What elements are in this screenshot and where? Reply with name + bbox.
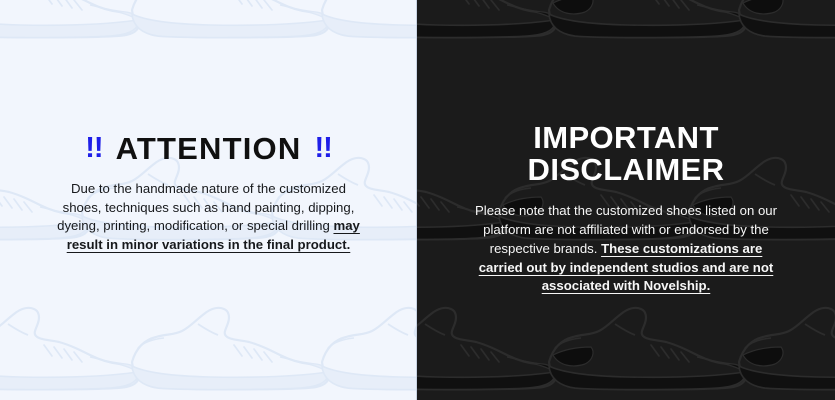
attention-heading: !! ATTENTION !!	[0, 133, 417, 164]
panel-divider	[416, 0, 417, 400]
attention-heading-text: ATTENTION	[116, 133, 302, 164]
disclaimer-heading-line-2: DISCLAIMER	[417, 154, 835, 186]
attention-content: !! ATTENTION !! Due to the handmade natu…	[0, 0, 417, 255]
attention-body: Due to the handmade nature of the custom…	[56, 180, 362, 255]
disclaimer-body: Please note that the customized shoes li…	[467, 202, 785, 296]
disclaimer-banner: !! ATTENTION !! Due to the handmade natu…	[0, 0, 835, 400]
double-exclamation-left-icon: !!	[85, 134, 102, 163]
attention-body-plain: Due to the handmade nature of the custom…	[57, 181, 354, 233]
double-exclamation-right-icon: !!	[314, 134, 331, 163]
attention-panel: !! ATTENTION !! Due to the handmade natu…	[0, 0, 417, 400]
disclaimer-heading-line-1: IMPORTANT	[417, 122, 835, 154]
disclaimer-heading: IMPORTANT DISCLAIMER	[417, 122, 835, 186]
disclaimer-content: IMPORTANT DISCLAIMER Please note that th…	[417, 0, 835, 296]
disclaimer-panel: IMPORTANT DISCLAIMER Please note that th…	[417, 0, 835, 400]
